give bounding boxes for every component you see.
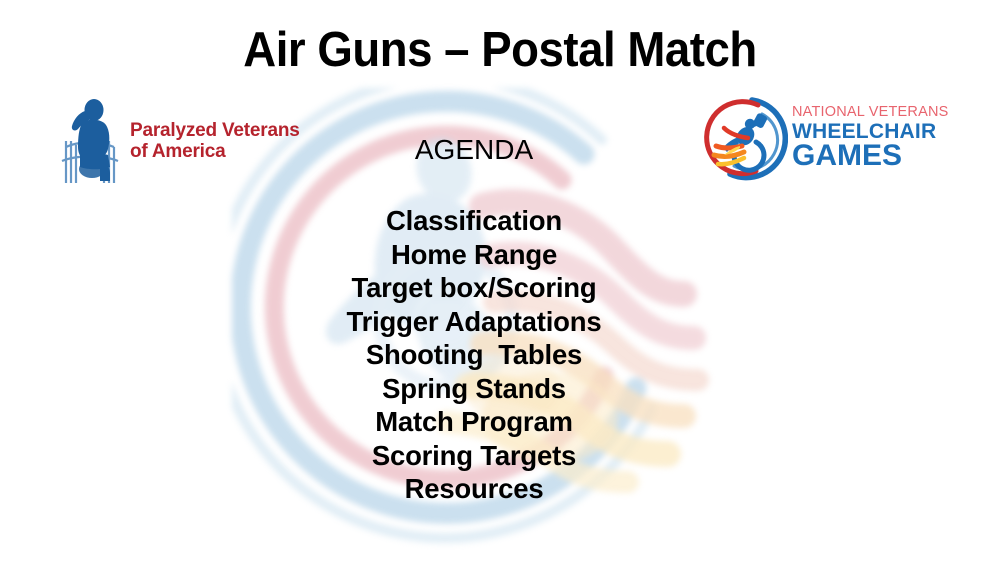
agenda-list: Classification Home Range Target box/Sco…: [274, 204, 674, 506]
nvwg-wordmark-line-3: GAMES: [792, 141, 949, 171]
agenda-item: Spring Stands: [274, 372, 674, 406]
nvwg-wordmark-line-2: WHEELCHAIR: [792, 121, 949, 142]
agenda-item: Target box/Scoring: [274, 271, 674, 305]
slide-canvas: Air Guns – Postal Match: [0, 0, 1000, 563]
pva-wordmark-line-2: of America: [130, 141, 300, 162]
agenda-item: Trigger Adaptations: [274, 305, 674, 339]
pva-wordmark-line-1: Paralyzed Veterans: [130, 120, 300, 141]
nvwg-wordmark: NATIONAL VETERANS WHEELCHAIR GAMES: [792, 105, 949, 171]
agenda-item: Home Range: [274, 238, 674, 272]
saluting-veteran-in-wheelchair-icon: [52, 97, 124, 185]
torch-bearer-circle-emblem-icon: [700, 94, 788, 182]
agenda-item: Classification: [274, 204, 674, 238]
nvwg-wordmark-line-1: NATIONAL VETERANS: [792, 105, 949, 120]
agenda-item: Match Program: [274, 405, 674, 439]
agenda-heading: AGENDA: [324, 134, 624, 166]
logo-paralyzed-veterans-of-america: Paralyzed Veterans of America: [52, 96, 312, 186]
agenda-item: Scoring Targets: [274, 439, 674, 473]
page-title: Air Guns – Postal Match: [35, 22, 965, 78]
logo-national-veterans-wheelchair-games: NATIONAL VETERANS WHEELCHAIR GAMES: [700, 92, 956, 184]
pva-wordmark: Paralyzed Veterans of America: [130, 120, 300, 162]
agenda-item: Resources: [274, 472, 674, 506]
agenda-item: Shooting Tables: [274, 338, 674, 372]
